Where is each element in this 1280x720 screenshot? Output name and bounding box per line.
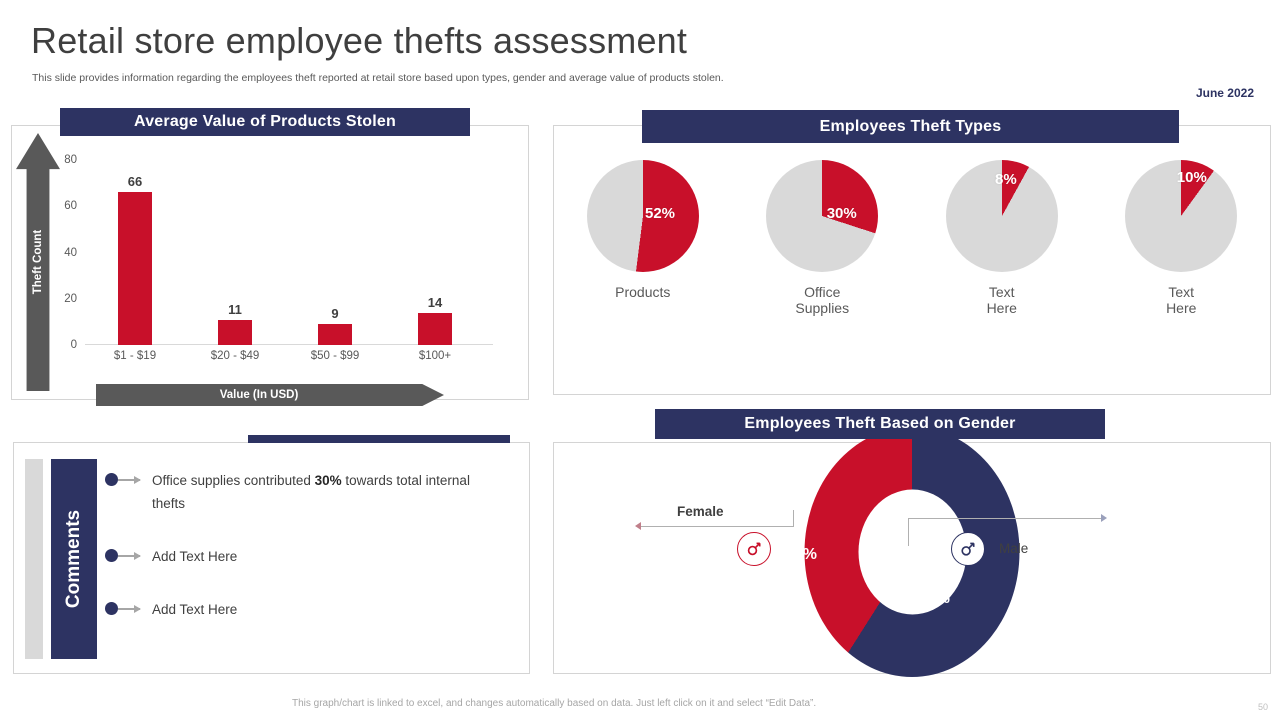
comments-side-strip — [25, 459, 43, 659]
female-leader-line — [641, 526, 793, 527]
y-axis-tick: 20 — [64, 293, 77, 305]
x-axis-tick-label: $1 - $19 — [85, 350, 185, 362]
bar — [418, 313, 452, 345]
list-item[interactable]: Office supplies contributed 30% towards … — [105, 470, 505, 516]
y-axis-title: Theft Count — [32, 230, 44, 295]
bar-plot-area: 020406080 6611914 — [85, 160, 485, 345]
male-leader-stem — [908, 518, 909, 546]
date-badge: June 2022 — [1196, 86, 1254, 100]
female-leader-arrow — [635, 522, 641, 530]
bar-column: 11 — [185, 160, 285, 345]
y-axis-tick: 80 — [64, 154, 77, 166]
pie-chart: 8% — [946, 160, 1058, 272]
pie-chart-item: 30%OfficeSupplies — [733, 160, 913, 350]
bar-value-label: 11 — [228, 302, 242, 317]
bar-value-label: 14 — [428, 295, 442, 310]
footer-note: This graph/chart is linked to excel, and… — [292, 698, 816, 709]
list-item-text: Office supplies contributed 30% towards … — [152, 470, 482, 516]
female-label: Female — [677, 504, 724, 519]
list-item-text: Add Text Here — [152, 546, 237, 569]
comments-bullet-list: Office supplies contributed 30% towards … — [105, 470, 505, 652]
bar-value-label: 9 — [331, 306, 338, 321]
pie-chart-item: 8%TextHere — [912, 160, 1092, 350]
donut-chart-banner: Employees Theft Based on Gender — [655, 409, 1105, 439]
pie-chart: 52% — [587, 160, 699, 272]
bar-series: 6611914 — [85, 160, 485, 345]
bullet-dot-icon — [105, 549, 118, 562]
x-axis-title: Value (In USD) — [96, 389, 422, 401]
y-axis-tick: 0 — [71, 339, 77, 351]
bar-value-label: 66 — [128, 174, 142, 189]
page-number: 50 — [1258, 702, 1268, 712]
female-leader-stem — [793, 510, 794, 527]
pie-chart-item: 10%TextHere — [1092, 160, 1272, 350]
comments-accent-bar — [248, 435, 510, 443]
pie-slice-value: 52% — [645, 205, 675, 222]
x-axis-tick-labels: $1 - $19$20 - $49$50 - $99$100+ — [85, 350, 485, 362]
list-item[interactable]: Add Text Here — [105, 599, 505, 622]
bar — [318, 324, 352, 345]
page-title: Retail store employee thefts assessment — [31, 20, 687, 62]
x-axis-arrow: Value (In USD) — [96, 384, 444, 406]
pie-chart: 10% — [1125, 160, 1237, 272]
pie-slice-value: 8% — [995, 171, 1017, 188]
male-label: Male — [999, 541, 1028, 556]
y-axis-tick: 40 — [64, 247, 77, 259]
pie-chart-group: 52%Products30%OfficeSupplies8%TextHere10… — [553, 160, 1271, 350]
bar — [118, 192, 152, 345]
pie-slice-value: 30% — [827, 205, 857, 222]
pie-chart-label: TextHere — [987, 284, 1017, 316]
bullet-dot-icon — [105, 473, 118, 486]
donut-male-value: 59% — [918, 590, 950, 608]
list-item[interactable]: Add Text Here — [105, 546, 505, 569]
pie-chart: 30% — [766, 160, 878, 272]
donut-female-value: 41% — [785, 546, 817, 564]
bar-column: 14 — [385, 160, 485, 345]
pie-charts-banner: Employees Theft Types — [642, 110, 1179, 143]
slide: Retail store employee thefts assessment … — [0, 0, 1280, 720]
pie-chart-item: 52%Products — [553, 160, 733, 350]
page-subtitle: This slide provides information regardin… — [32, 72, 724, 84]
male-leader-arrow — [1101, 514, 1107, 522]
bullet-dot-icon — [105, 602, 118, 615]
x-axis-tick-label: $100+ — [385, 350, 485, 362]
pie-chart-label: OfficeSupplies — [795, 284, 849, 316]
male-gender-symbol-icon — [951, 532, 985, 566]
pie-chart-label: Products — [615, 284, 670, 300]
female-gender-symbol-icon — [737, 532, 771, 566]
y-axis-tick: 60 — [64, 200, 77, 212]
list-item-text: Add Text Here — [152, 599, 237, 622]
pie-slice-value: 10% — [1177, 169, 1207, 186]
bar-column: 9 — [285, 160, 385, 345]
bar-chart-banner: Average Value of Products Stolen — [60, 108, 470, 136]
comments-tab-label: Comments — [63, 510, 85, 608]
x-axis-tick-label: $50 - $99 — [285, 350, 385, 362]
bullet-arrow-icon — [118, 555, 140, 557]
comments-tab: Comments — [51, 459, 97, 659]
pie-chart-label: TextHere — [1166, 284, 1196, 316]
x-axis-tick-label: $20 - $49 — [185, 350, 285, 362]
bar — [218, 320, 252, 345]
donut-ring — [805, 427, 1020, 677]
bar-column: 66 — [85, 160, 185, 345]
male-leader-line — [908, 518, 1103, 519]
donut-chart-area: 41% 59% Female Male — [553, 442, 1271, 674]
bullet-arrow-icon — [118, 608, 140, 610]
bullet-arrow-icon — [118, 479, 140, 481]
